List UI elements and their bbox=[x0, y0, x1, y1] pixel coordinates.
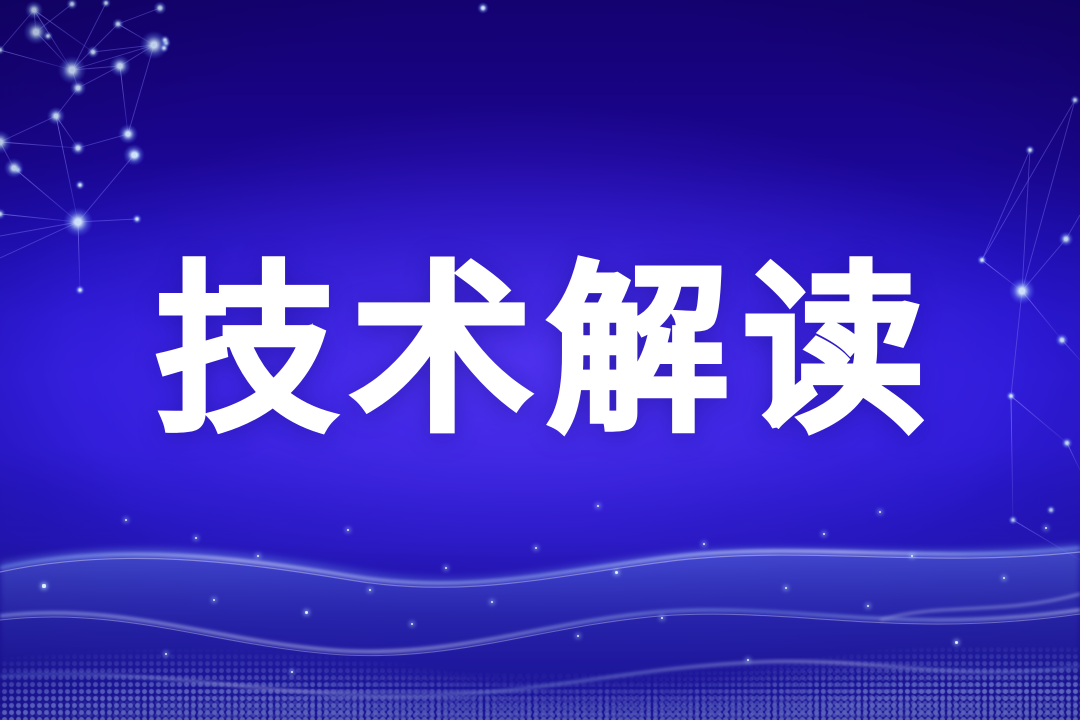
particle-speck bbox=[42, 584, 45, 587]
particle-speck bbox=[125, 519, 128, 522]
particle-speck bbox=[347, 529, 349, 531]
particle-speck bbox=[577, 635, 579, 637]
particle-speck bbox=[1045, 527, 1048, 530]
particle-speck bbox=[291, 671, 293, 673]
particle-speck bbox=[867, 605, 870, 608]
particle-speck bbox=[411, 623, 413, 625]
particle-speck bbox=[785, 587, 788, 590]
particle-speck bbox=[823, 533, 825, 535]
particle-speck bbox=[535, 547, 538, 550]
particle-speck bbox=[955, 641, 958, 644]
floating-particles bbox=[0, 490, 1080, 720]
particle-speck bbox=[661, 617, 663, 619]
technical-interpretation-banner: 技术解读 bbox=[0, 0, 1080, 720]
particle-speck bbox=[445, 567, 448, 570]
particle-speck bbox=[165, 653, 167, 655]
particle-speck bbox=[879, 511, 881, 513]
headline-container: 技术解读 bbox=[0, 246, 1080, 456]
particle-speck bbox=[213, 599, 216, 602]
particle-speck bbox=[615, 571, 618, 574]
particle-speck bbox=[369, 589, 372, 592]
particle-speck bbox=[257, 555, 259, 557]
particle-speck bbox=[911, 555, 913, 557]
particle-speck bbox=[597, 505, 599, 507]
wave-field bbox=[0, 490, 1080, 720]
particle-speck bbox=[195, 537, 197, 539]
particle-speck bbox=[491, 601, 493, 603]
particle-speck bbox=[305, 611, 308, 614]
page-title: 技术解读 bbox=[141, 260, 939, 442]
particle-speck bbox=[747, 659, 749, 661]
particle-speck bbox=[1003, 577, 1005, 579]
particle-speck bbox=[703, 543, 706, 546]
